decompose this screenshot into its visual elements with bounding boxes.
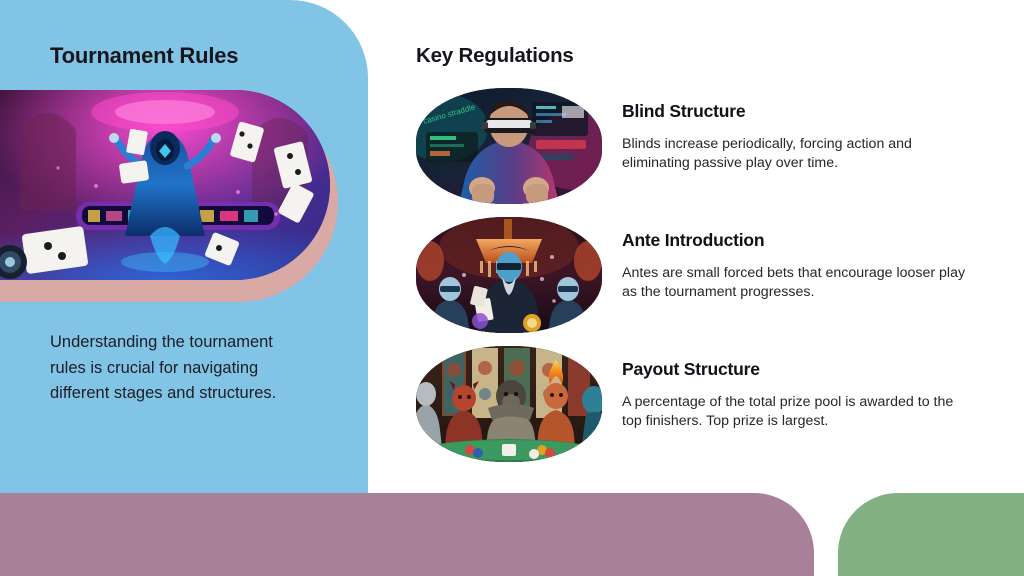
regulation-text-1: Blind Structure Blinds increase periodic…	[622, 88, 967, 173]
regulation-thumbnail-1: casino straddle	[416, 88, 602, 204]
intro-paragraph: Understanding the tournament rules is cr…	[50, 330, 310, 407]
hero-image-group	[0, 90, 340, 295]
bottom-mauve-bar	[0, 493, 814, 576]
list-item: Payout Structure A percentage of the tot…	[416, 346, 1016, 462]
page-title: Tournament Rules	[50, 43, 238, 69]
regulation-heading: Blind Structure	[622, 101, 967, 122]
regulation-description: Antes are small forced bets that encoura…	[622, 264, 967, 302]
bottom-green-bar	[838, 493, 1024, 576]
regulation-heading: Payout Structure	[622, 359, 967, 380]
regulation-text-2: Ante Introduction Antes are small forced…	[622, 217, 967, 302]
regulation-description: Blinds increase periodically, forcing ac…	[622, 135, 967, 173]
regulation-description: A percentage of the total prize pool is …	[622, 393, 967, 431]
regulation-thumbnail-2	[416, 217, 602, 333]
regulations-list: casino straddle Blind Stru	[416, 88, 1016, 475]
hero-image	[0, 90, 330, 280]
regulation-text-3: Payout Structure A percentage of the tot…	[622, 346, 967, 431]
section-title: Key Regulations	[416, 44, 574, 68]
list-item: Ante Introduction Antes are small forced…	[416, 217, 1016, 333]
slide-canvas: Tournament Rules	[0, 0, 1024, 576]
regulation-heading: Ante Introduction	[622, 230, 967, 251]
regulation-thumbnail-3	[416, 346, 602, 462]
list-item: casino straddle Blind Stru	[416, 88, 1016, 204]
